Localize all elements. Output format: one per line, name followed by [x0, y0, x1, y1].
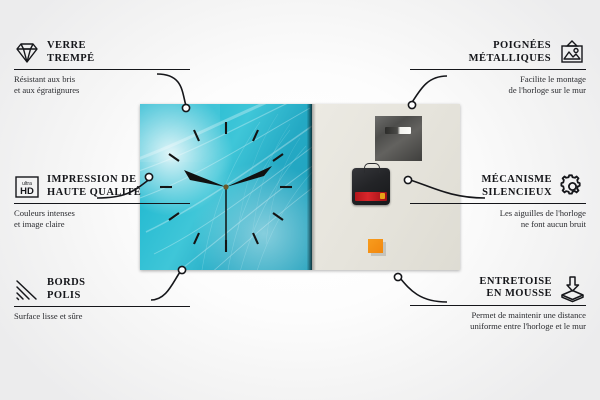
feature-rule — [14, 69, 190, 70]
feature-rule — [410, 69, 586, 70]
feature-rule — [14, 203, 190, 204]
feature-bords-polis: BORDS POLIS Surface lisse et sûre — [14, 277, 190, 322]
feature-header: VERRE TREMPÉ — [14, 40, 190, 65]
feature-title: BORDS POLIS — [47, 277, 85, 302]
feature-entretoise-en-mousse: ENTRETOISE EN MOUSSE Permet de maintenir… — [410, 275, 586, 332]
connector-dot-entretoise — [394, 273, 401, 280]
feature-title: IMPRESSION DE HAUTE QUALITÉ — [47, 174, 141, 199]
clock-hands — [184, 166, 272, 244]
feature-impression-haute-qualite: ultra HD IMPRESSION DE HAUTE QUALITÉ Cou… — [14, 174, 190, 230]
clock-center-cap — [223, 184, 228, 189]
quartz-mechanism — [352, 168, 390, 205]
feature-description: Surface lisse et sûre — [14, 311, 190, 322]
feature-rule — [410, 305, 586, 306]
aa-battery — [355, 192, 387, 201]
mechanism-loop — [364, 163, 380, 173]
foam-spacer — [368, 239, 383, 253]
feature-header: POIGNÉES MÉTALLIQUES — [410, 40, 586, 65]
diagonal-lines-icon — [14, 279, 40, 301]
feature-title: ENTRETOISE EN MOUSSE — [479, 276, 552, 301]
arrow-down-layer-icon — [559, 275, 586, 301]
feature-title: VERRE TREMPÉ — [47, 40, 95, 65]
feature-mecanisme-silencieux: MÉCANISME SILENCIEUX Les aiguilles de l'… — [410, 174, 586, 230]
feature-rule — [14, 306, 190, 307]
feature-description: Couleurs intenses et image claire — [14, 208, 190, 230]
ultra-hd-icon: ultra HD — [14, 175, 40, 199]
hanging-frame-icon — [558, 40, 586, 65]
feature-header: MÉCANISME SILENCIEUX — [410, 174, 586, 199]
feature-rule — [410, 203, 586, 204]
feature-description: Résistant aux bris et aux égratignures — [14, 74, 190, 96]
metal-hanger — [375, 116, 422, 161]
hour-hand — [184, 170, 226, 187]
diamond-icon — [14, 42, 40, 64]
feature-header: BORDS POLIS — [14, 277, 190, 302]
infographic-canvas: VERRE TREMPÉ Résistant aux bris et aux é… — [0, 0, 600, 400]
feature-description: Facilite le montage de l'horloge sur le … — [410, 74, 586, 96]
gear-icon — [559, 174, 586, 199]
feature-description: Permet de maintenir une distance uniform… — [410, 310, 586, 332]
svg-text:HD: HD — [20, 186, 34, 197]
feature-description: Les aiguilles de l'horloge ne font aucun… — [410, 208, 586, 230]
feature-verre-trempe: VERRE TREMPÉ Résistant aux bris et aux é… — [14, 40, 190, 96]
feature-header: ultra HD IMPRESSION DE HAUTE QUALITÉ — [14, 174, 190, 199]
minute-hand — [226, 166, 272, 187]
feature-title: POIGNÉES MÉTALLIQUES — [469, 40, 551, 65]
feature-poignees-metalliques: POIGNÉES MÉTALLIQUES Facilite le montage… — [410, 40, 586, 96]
hanger-slot — [385, 127, 411, 134]
feature-title: MÉCANISME SILENCIEUX — [481, 174, 552, 199]
feature-header: ENTRETOISE EN MOUSSE — [410, 275, 586, 301]
